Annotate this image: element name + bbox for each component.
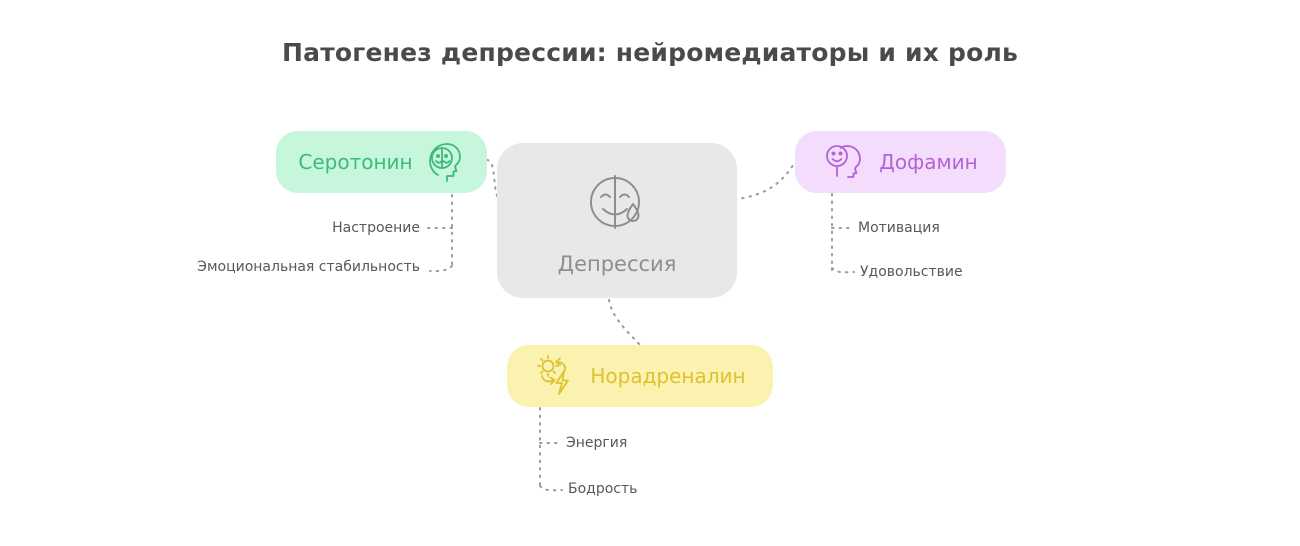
sublabel-serotonin-1: Настроение [170, 220, 420, 236]
sublabel-dopamine-2: Удовольствие [860, 264, 963, 280]
sublabel-noradrenaline-1: Энергия [566, 435, 627, 451]
node-serotonin[interactable]: Серотонин [276, 131, 487, 193]
node-depression-label: Депрессия [558, 252, 677, 276]
node-depression[interactable]: Депрессия [497, 143, 737, 298]
split-face-icon [581, 166, 653, 238]
sublabel-noradrenaline-2: Бодрость [568, 481, 637, 497]
node-serotonin-label: Серотонин [298, 150, 412, 174]
node-noradrenaline[interactable]: Норадреналин [507, 345, 773, 407]
connector-serotonin-sub-2 [430, 266, 452, 271]
diagram-canvas: Патогенез депрессии: нейромедиаторы и их… [0, 0, 1300, 546]
sun-lightning-icon [534, 353, 578, 399]
node-noradrenaline-label: Норадреналин [590, 364, 745, 388]
sublabel-serotonin-2: Эмоциональная стабильность [130, 259, 420, 275]
node-dopamine-label: Дофамин [879, 150, 977, 174]
connector-dopamine-sub-2 [832, 268, 854, 272]
head-profile-smile-icon [823, 140, 867, 184]
connector-noradrenaline-sub-2 [540, 486, 562, 490]
sublabel-dopamine-1: Мотивация [858, 220, 940, 236]
page-title: Патогенез депрессии: нейромедиаторы и их… [0, 38, 1300, 67]
node-dopamine[interactable]: Дофамин [795, 131, 1006, 193]
head-profile-face-icon [425, 140, 465, 184]
connector-center-noradrenaline [609, 300, 640, 345]
connector-center-dopamine [735, 162, 795, 200]
